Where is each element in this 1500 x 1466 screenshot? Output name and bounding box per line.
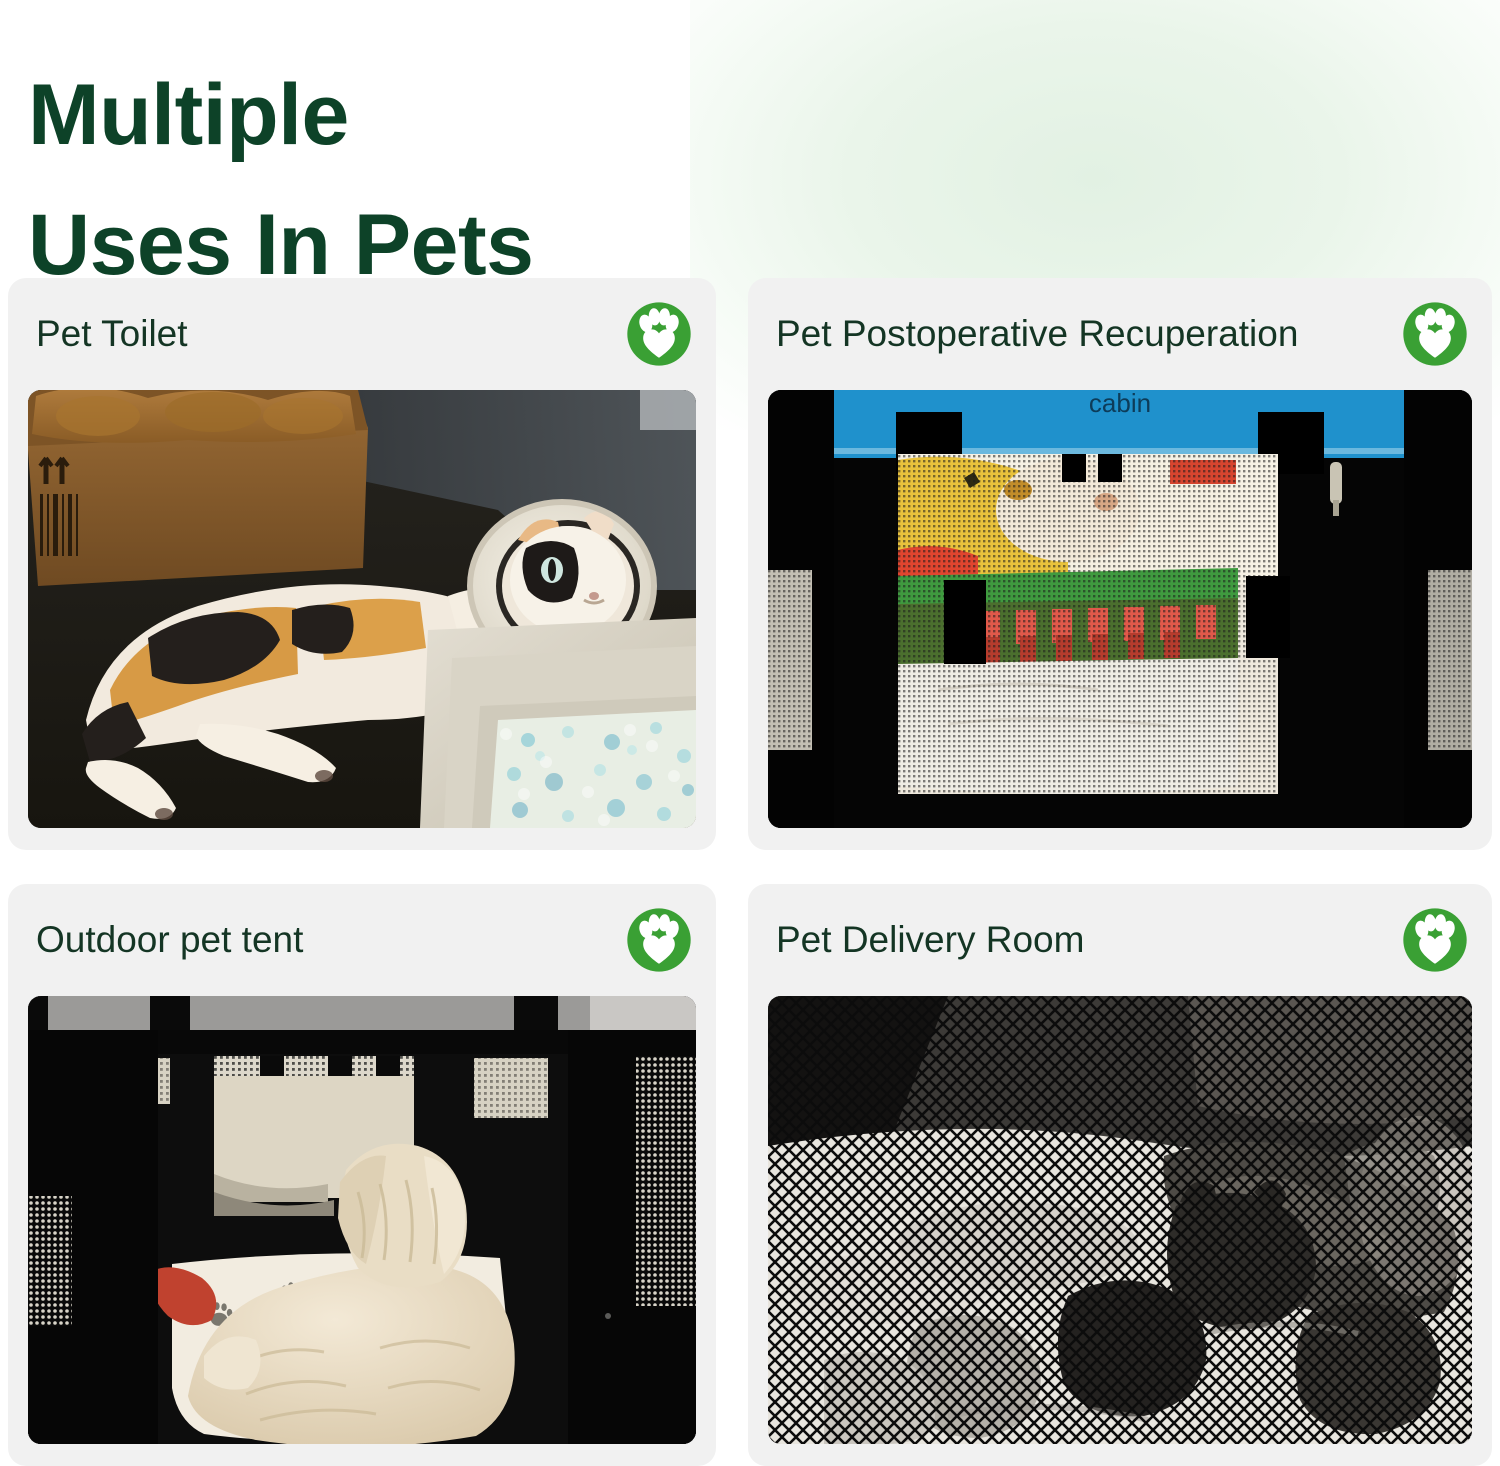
card-photo-outdoor-tent (28, 996, 696, 1444)
paw-icon (1402, 301, 1468, 367)
paw-icon (626, 907, 692, 973)
page-title: Multiple Uses In Pets (28, 50, 828, 311)
paw-icon (626, 301, 692, 367)
photo-brand-text: cabin (1089, 390, 1151, 418)
card-title: Outdoor pet tent (36, 920, 303, 961)
card-pet-postoperative-recuperation[interactable]: Pet Postoperative Recuperation (748, 278, 1492, 850)
card-pet-toilet[interactable]: Pet Toilet (8, 278, 716, 850)
card-title: Pet Postoperative Recuperation (776, 314, 1298, 355)
card-photo-pet-toilet (28, 390, 696, 828)
card-header: Pet Toilet (8, 278, 716, 390)
promo-page: Multiple Uses In Pets Pet Toilet (0, 0, 1500, 1466)
card-outdoor-pet-tent[interactable]: Outdoor pet tent (8, 884, 716, 1466)
card-header: Pet Delivery Room (748, 884, 1492, 996)
card-header: Pet Postoperative Recuperation (748, 278, 1492, 390)
card-title: Pet Toilet (36, 314, 188, 355)
card-photo-delivery-room (768, 996, 1472, 1444)
card-photo-postoperative: cabin (768, 390, 1472, 828)
card-pet-delivery-room[interactable]: Pet Delivery Room (748, 884, 1492, 1466)
paw-icon (1402, 907, 1468, 973)
card-title: Pet Delivery Room (776, 920, 1084, 961)
card-header: Outdoor pet tent (8, 884, 716, 996)
